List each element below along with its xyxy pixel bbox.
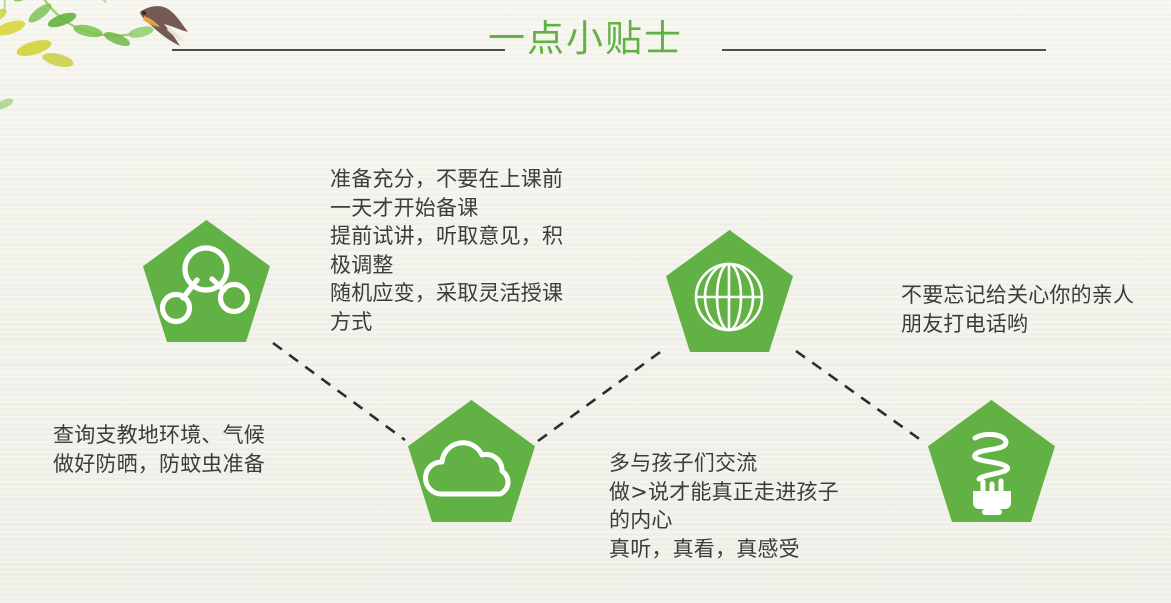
text-family: 不要忘记给关心你的亲人 朋友打电话哟: [901, 281, 1163, 338]
node-cloud[interactable]: [407, 399, 536, 523]
pentagon-shape-network: [142, 219, 271, 343]
slide-canvas: 一点小贴士: [0, 0, 1171, 603]
pentagon-shape-cloud: [407, 399, 536, 523]
slide-header: 一点小贴士: [0, 0, 1171, 100]
globe-icon: [696, 264, 762, 330]
node-network[interactable]: [142, 219, 271, 343]
node-globe[interactable]: [665, 229, 794, 353]
pentagon-shape-bulb: [927, 399, 1056, 523]
pentagon-shape-globe: [665, 229, 794, 353]
text-preparation: 准备充分，不要在上课前 一天才开始备课 提前试讲，听取意见，积 极调整 随机应变…: [330, 165, 605, 336]
text-climate: 查询支教地环境、气候 做好防晒，防蚊虫准备: [53, 421, 328, 478]
connector-globe-to-bulb: [796, 351, 925, 443]
text-children: 多与孩子们交流 做>说才能真正走进孩子 的内心 真听，真看，真感受: [609, 449, 884, 563]
node-bulb[interactable]: [927, 399, 1056, 523]
connector-cloud-to-globe: [538, 350, 663, 441]
page-title: 一点小贴士: [0, 17, 1171, 61]
